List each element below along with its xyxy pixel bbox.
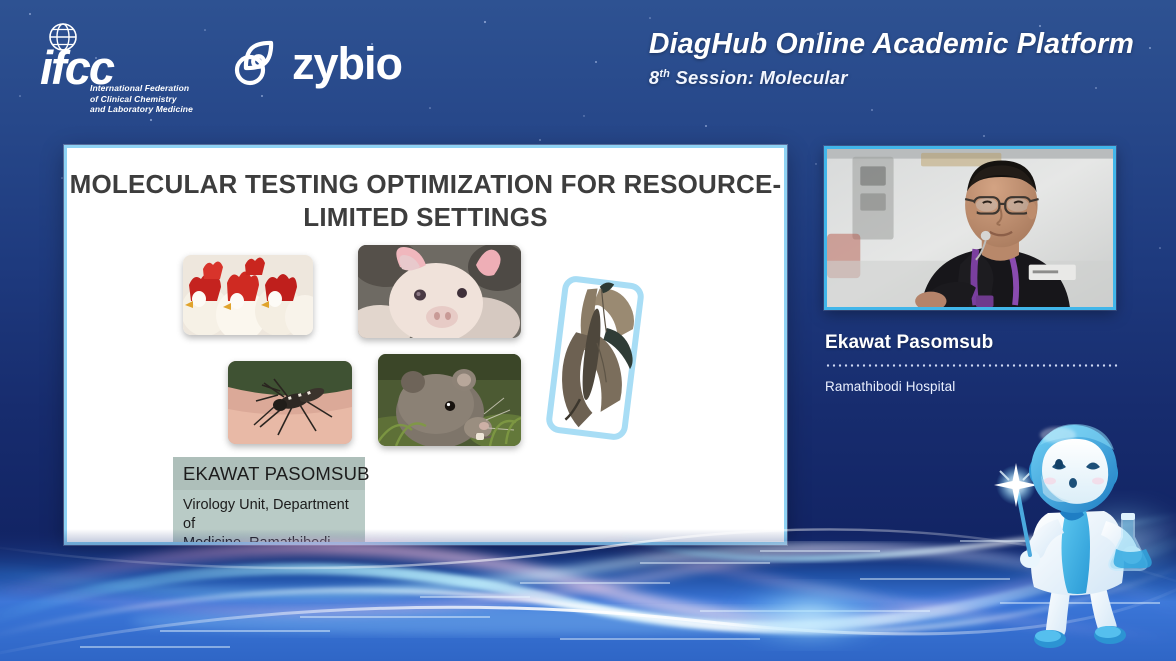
presenter-affiliation: Virology Unit, Department of Medicine, R… [173, 490, 365, 542]
rat-photo [378, 354, 521, 446]
presentation-screen: ifcc International Federation of Clinica… [0, 0, 1176, 661]
mosquito-photo [228, 361, 352, 444]
piglet-photo [358, 245, 521, 338]
session-ordinal: th [659, 68, 670, 80]
bat-photo [541, 268, 653, 450]
speaker-organization: Ramathibodi Hospital [825, 379, 1125, 394]
presentation-slide[interactable]: MOLECULAR TESTING OPTIMIZATION FOR RESOU… [64, 145, 787, 545]
zybio-leaf-icon [231, 37, 283, 89]
speaker-info-panel: Ekawat Pasomsub Ramathibodi Hospital [825, 332, 1125, 394]
ifcc-logo: ifcc International Federation of Clinica… [38, 22, 198, 114]
session-number: 8 [649, 67, 660, 88]
robot-scientist-mascot: z [988, 409, 1176, 657]
zybio-wordmark: zybio [292, 41, 402, 86]
ifcc-subtitle: International Federation of Clinical Che… [90, 83, 193, 115]
presenter-name-box: EKAWAT PASOMSUB Virology Unit, Departmen… [173, 457, 365, 542]
event-session: 8th Session: Molecular [649, 67, 1134, 89]
event-title: DiagHub Online Academic Platform [649, 28, 1134, 61]
chickens-photo [183, 255, 313, 335]
zybio-logo: zybio [231, 33, 402, 93]
speaker-name: Ekawat Pasomsub [825, 332, 1125, 354]
event-title-block: DiagHub Online Academic Platform 8th Ses… [649, 28, 1134, 89]
speaker-webcam-feed[interactable] [824, 146, 1116, 310]
slide-title: MOLECULAR TESTING OPTIMIZATION FOR RESOU… [67, 168, 784, 234]
dotted-divider [825, 364, 1120, 367]
slide-content: MOLECULAR TESTING OPTIMIZATION FOR RESOU… [67, 148, 784, 542]
presenter-name: EKAWAT PASOMSUB [173, 457, 365, 490]
header-bar: ifcc International Federation of Clinica… [0, 0, 1176, 128]
session-label: Session: Molecular [670, 67, 848, 88]
